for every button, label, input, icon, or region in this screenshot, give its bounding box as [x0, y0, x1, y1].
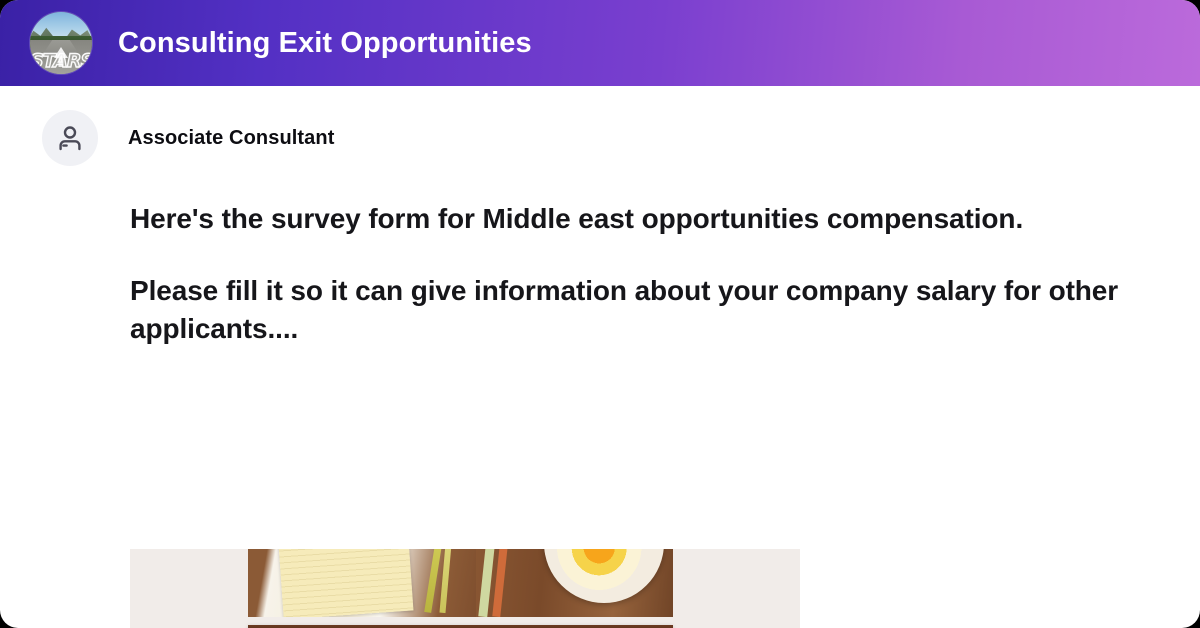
preview-banner-image — [248, 549, 673, 617]
preview-page-background: MENA Compensation Survey Priority will b… — [130, 549, 800, 628]
post-text: Here's the survey form for Middle east o… — [0, 200, 1200, 347]
avatar[interactable] — [42, 110, 98, 166]
banner-pencil-2 — [439, 549, 454, 613]
post-header: STARS Consulting Exit Opportunities — [0, 0, 1200, 86]
person-icon — [55, 123, 85, 153]
avatar-stars-text: STARS — [30, 52, 92, 71]
post-body: Associate Consultant Here's the survey f… — [0, 86, 1200, 347]
author-row[interactable]: Associate Consultant — [0, 86, 1200, 166]
fishbowl-post-card: STARS Consulting Exit Opportunities Asso… — [0, 0, 1200, 628]
post-paragraph-2: Please fill it so it can give informatio… — [130, 272, 1140, 348]
author-name: Associate Consultant — [128, 127, 334, 150]
post-paragraph-1: Here's the survey form for Middle east o… — [130, 200, 1140, 238]
banner-notepad — [277, 549, 414, 617]
link-preview[interactable]: MENA Compensation Survey Priority will b… — [130, 549, 800, 628]
group-avatar[interactable]: STARS — [30, 12, 92, 74]
group-title: Consulting Exit Opportunities — [118, 27, 532, 60]
